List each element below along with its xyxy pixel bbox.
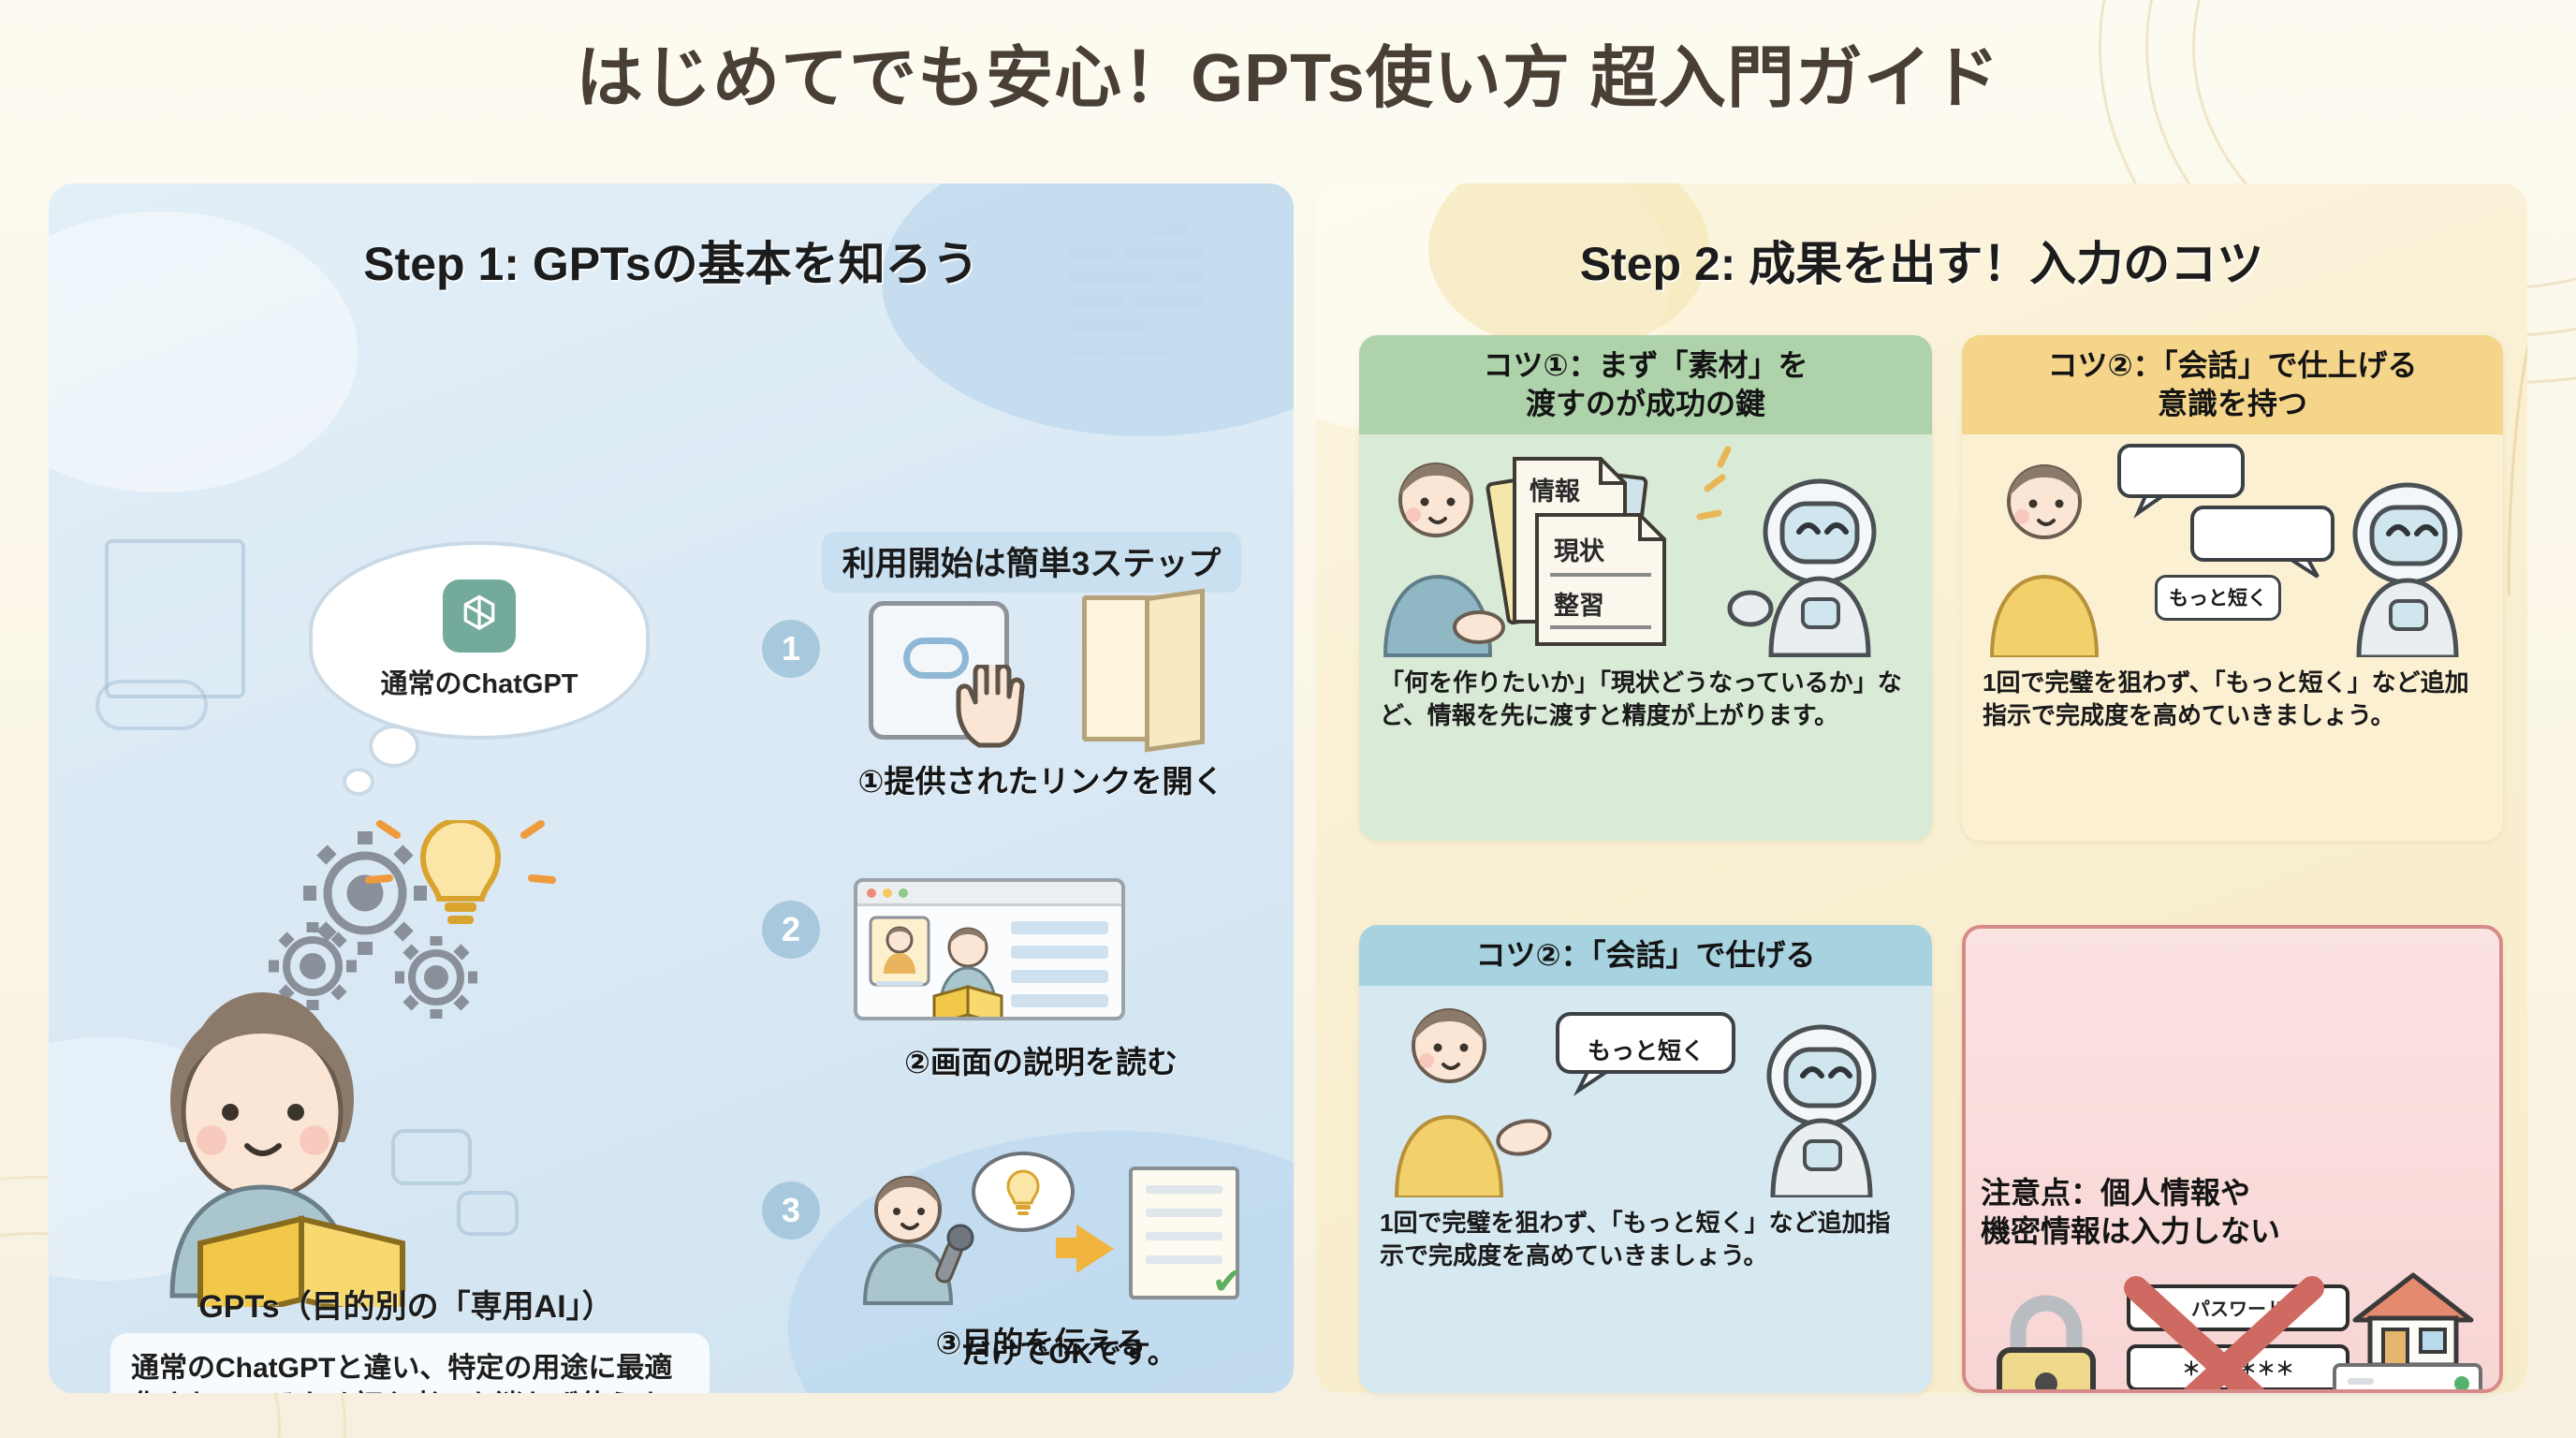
- pointing-hand-icon: [951, 665, 1032, 751]
- decor-chat-outline: [391, 1129, 472, 1185]
- steps-title: 利用開始は簡単3ステップ: [769, 532, 1294, 593]
- person-chat-robot-svg: [1962, 434, 2503, 657]
- card-tip-2-body: 1回で完璧を狙わず、「もっと短く」など追加指示で完成度を高めていきましょう。: [1962, 657, 2503, 748]
- openai-logo-icon: [443, 580, 516, 653]
- speech-bubble: もっと短く: [1576, 1027, 1716, 1073]
- infographic-poster: はじめてでも安心！GPTs使い方 超入門ガイド Step 1: GPTsの基本を…: [0, 0, 2576, 1438]
- door-icon: [1082, 595, 1183, 741]
- card-tip-2[interactable]: コツ②：「会話」で仕上げる意識を持つ: [1962, 335, 2503, 841]
- id-card-icon: [2333, 1363, 2482, 1393]
- idea-bubble: [972, 1152, 1075, 1232]
- panel-1-heading: Step 1: GPTsの基本を知ろう: [49, 227, 1294, 294]
- card-warning-heading: 注意点：個人情報や機密情報は入力しない: [1966, 929, 2499, 1258]
- browser-dot: [867, 888, 876, 898]
- person-handing-documents-svg: 情報 現状 整習: [1359, 434, 1932, 657]
- step-number: 2: [762, 901, 820, 959]
- panel-step-1: Step 1: GPTsの基本を知ろう 通常のChatGPT: [49, 183, 1294, 1393]
- doc-label-2: 現状: [1554, 537, 1605, 565]
- card-warning[interactable]: 注意点：個人情報や機密情報は入力しない パスワード ＊＊＊＊＊＊ 得七短: [1962, 925, 2503, 1393]
- step-2-illustration: [831, 876, 1243, 1026]
- card-tip-1-body: 「何を作りたいか」「現状どうなっているか」など、情報を先に渡すと精度が上がります…: [1359, 657, 1932, 748]
- card-tip-2b-body: 1回で完璧を狙わず、「もっと短く」など追加指示で完成度を高めていきましょう。: [1359, 1197, 1932, 1288]
- cross-out-icon: [2112, 1271, 2336, 1393]
- step-label: ①提供されたリンクを開く: [798, 756, 1284, 801]
- document-icon: ✔: [1129, 1167, 1239, 1299]
- browser-window-icon: [854, 878, 1125, 1020]
- house-icon: [2348, 1268, 2479, 1371]
- step-1-illustration: [831, 595, 1243, 745]
- card-tip-2-heading: コツ②：「会話」で仕上げる意識を持つ: [1962, 335, 2503, 434]
- gpts-caption: GPTs（目的別の「専用AI」）: [116, 1281, 696, 1327]
- step-row-1: 1 ①提供されたリンクを開く: [760, 595, 1294, 820]
- step-row-2: 2: [760, 876, 1294, 1101]
- check-icon: ✔: [1211, 1260, 1243, 1303]
- card-tip-1[interactable]: コツ①：まず「素材」を渡すのが成功の鍵: [1359, 335, 1932, 841]
- browser-text-lines: [1011, 921, 1108, 1007]
- decor-chat-outline: [457, 1191, 519, 1236]
- speech-bubble: もっと短く: [2155, 575, 2281, 621]
- browser-titlebar: [857, 882, 1121, 906]
- door-leaf: [1145, 589, 1205, 753]
- step-number: 3: [762, 1181, 820, 1240]
- card-warning-illustration: パスワード ＊＊＊＊＊＊ 得七短: [1966, 1258, 2499, 1393]
- decor-cloud-outline: [95, 680, 208, 730]
- lightbulb-icon: [1003, 1167, 1044, 1216]
- person-chat-robot-svg: [1359, 986, 1932, 1197]
- thought-bubble: 通常のChatGPT: [309, 541, 650, 740]
- card-tip-1-heading: コツ①：まず「素材」を渡すのが成功の鍵: [1359, 335, 1932, 434]
- id-status-dot: [2454, 1376, 2469, 1391]
- illustration-boy-reading: [114, 820, 713, 1307]
- doc-label-3: 整習: [1554, 592, 1604, 620]
- panel-2-heading: Step 2: 成果を出す！入力のコツ: [1316, 227, 2527, 294]
- card-tip-2b-illustration: もっと短く: [1359, 986, 1932, 1197]
- card-tip-2b-heading: コツ②：「会話」で仕げる: [1359, 925, 1932, 986]
- browser-dot: [899, 888, 908, 898]
- step-3-illustration: ✔: [831, 1157, 1243, 1307]
- doc-label-1: 情報: [1529, 477, 1581, 506]
- padlock-icon: [1975, 1281, 2115, 1393]
- page-title: はじめてでも安心！GPTs使い方 超入門ガイド: [0, 22, 2576, 121]
- arrow-icon: [1076, 1225, 1114, 1273]
- card-tip-1-illustration: 情報 現状 整習: [1359, 434, 1932, 657]
- steps-footer: だけでOKです。: [863, 1329, 1275, 1372]
- card-tip-2-illustration: もっと短く: [1962, 434, 2503, 657]
- id-line: [2348, 1378, 2374, 1385]
- gpts-note: 通常のChatGPTと違い、特定の用途に最適化されているため初心者でも迷わず使え…: [110, 1333, 710, 1393]
- step-label: ②画面の説明を読む: [798, 1037, 1284, 1082]
- boy-reading-svg: [114, 820, 713, 1307]
- browser-dot: [883, 888, 892, 898]
- id-photo: [2348, 1391, 2396, 1393]
- card-tip-2b[interactable]: コツ②：「会話」で仕げる: [1359, 925, 1932, 1393]
- step-number: 1: [762, 620, 820, 678]
- decor-document-outline: [105, 539, 245, 698]
- bubble-label: 通常のChatGPT: [380, 662, 578, 701]
